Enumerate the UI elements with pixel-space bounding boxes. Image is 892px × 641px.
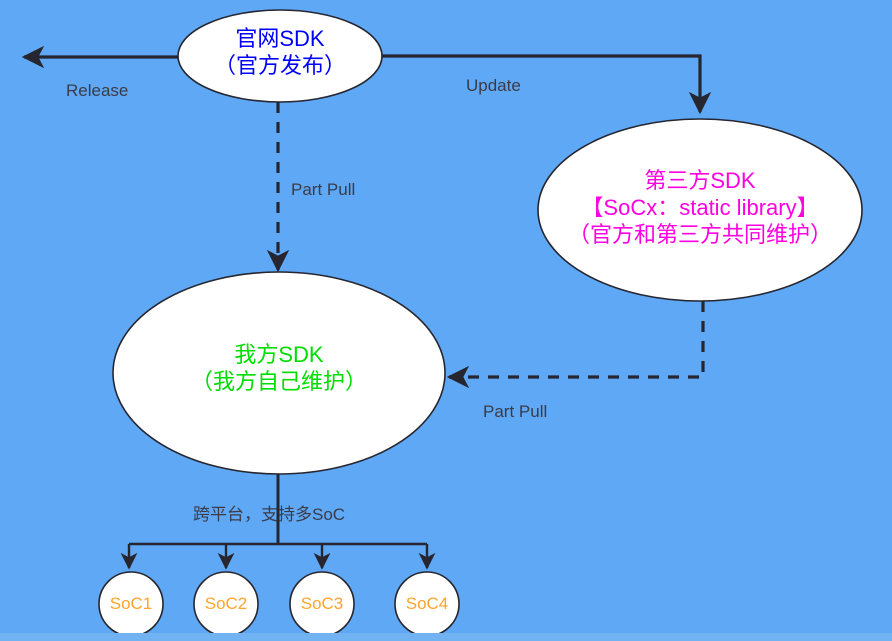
edge-label-part-pull-right: Part Pull: [483, 402, 547, 422]
node-soc2-label: SoC2: [194, 594, 258, 614]
edge-label-update: Update: [466, 76, 521, 96]
diagram-canvas: 官网SDK （官方发布） 第三方SDK 【SoCx：static library…: [0, 0, 892, 641]
edge-label-part-pull-top: Part Pull: [291, 180, 355, 200]
node-soc3-label: SoC3: [290, 594, 354, 614]
node-soc4-label: SoC4: [395, 594, 459, 614]
edge-part-pull-right: [449, 301, 703, 377]
node-our-sdk-shape[interactable]: [113, 272, 445, 474]
diagram-graphics: [0, 0, 892, 641]
edge-label-soc-fanout: 跨平台，支持多SoC: [193, 500, 345, 525]
edge-label-release: Release: [66, 81, 128, 101]
node-third-party-sdk-shape[interactable]: [538, 119, 862, 301]
edge-update: [382, 56, 700, 112]
node-official-sdk-shape[interactable]: [178, 10, 382, 102]
node-soc1-label: SoC1: [99, 594, 163, 614]
bottom-strip: [0, 633, 892, 641]
